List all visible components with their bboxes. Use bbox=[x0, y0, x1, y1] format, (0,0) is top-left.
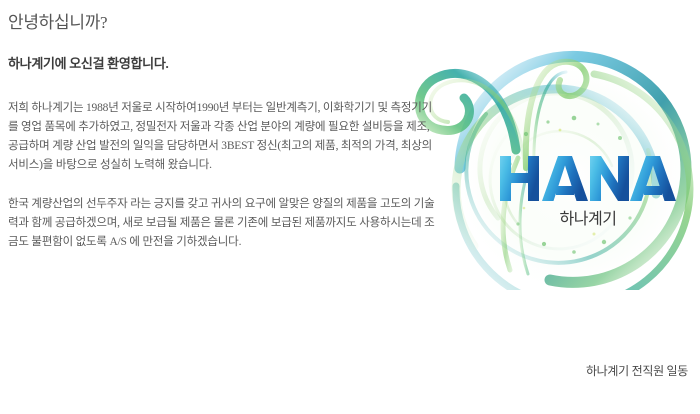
signature-line: 하나계기 전직원 일동 bbox=[586, 362, 688, 379]
welcome-heading: 하나계기에 오신걸 환영합니다. bbox=[8, 34, 438, 73]
body-paragraph-2: 한국 계량산업의 선두주자 라는 긍지를 갖고 귀사의 요구에 알맞은 양질의 … bbox=[8, 175, 438, 252]
hana-wordmark bbox=[498, 150, 678, 208]
body-paragraph-1: 저희 하나계기는 1988년 저울로 시작하여1990년 부터는 일반계측기, … bbox=[8, 73, 438, 175]
greeting-content: 안녕하십니까? 하나계기에 오신걸 환영합니다. 저희 하나계기는 1988년 … bbox=[8, 0, 438, 252]
page-title: 안녕하십니까? bbox=[8, 0, 438, 34]
logo-subtitle: 하나계기 bbox=[498, 205, 678, 229]
